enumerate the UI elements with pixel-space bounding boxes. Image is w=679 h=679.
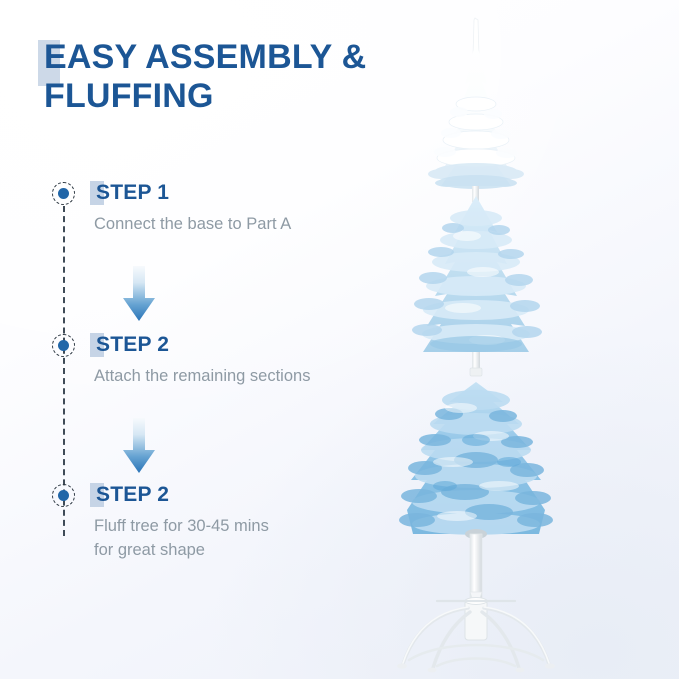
assembly-infographic: EASY ASSEMBLY & FLUFFING <box>0 0 679 679</box>
step-description-1: Connect the base to Part A <box>94 213 404 236</box>
tree-bottom-section <box>399 382 553 539</box>
page-title: EASY ASSEMBLY & FLUFFING <box>44 38 444 117</box>
tree-stand <box>397 534 555 672</box>
marker-center-dot <box>58 188 69 199</box>
step-body-1: STEP 1 Connect the base to Part A <box>92 180 404 237</box>
step-title-2: STEP 2 <box>96 332 169 358</box>
target-dot-icon <box>52 334 75 357</box>
target-dot-icon <box>52 182 75 205</box>
step-title-1: STEP 1 <box>96 180 169 206</box>
step-item-2: STEP 2 Attach the remaining sections <box>44 332 404 389</box>
step-item-1: STEP 1 Connect the base to Part A <box>44 180 404 237</box>
down-arrow-icon-1 <box>122 266 156 322</box>
step-heading-3: STEP 2 <box>92 482 169 508</box>
step-description-2: Attach the remaining sections <box>94 365 404 388</box>
step-item-3: STEP 2 Fluff tree for 30-45 mins for gre… <box>44 482 404 562</box>
step-body-2: STEP 2 Attach the remaining sections <box>92 332 404 389</box>
step-description-3: Fluff tree for 30-45 mins for great shap… <box>94 515 404 562</box>
target-dot-icon <box>52 484 75 507</box>
step-title-3: STEP 2 <box>96 482 169 508</box>
page-title-block: EASY ASSEMBLY & FLUFFING <box>44 38 444 117</box>
marker-center-dot <box>58 340 69 351</box>
step-body-3: STEP 2 Fluff tree for 30-45 mins for gre… <box>92 482 404 562</box>
step-heading-1: STEP 1 <box>92 180 169 206</box>
step-heading-2: STEP 2 <box>92 332 169 358</box>
down-arrow-icon-2 <box>122 418 156 474</box>
tree-middle-section <box>412 196 542 376</box>
marker-center-dot <box>58 490 69 501</box>
